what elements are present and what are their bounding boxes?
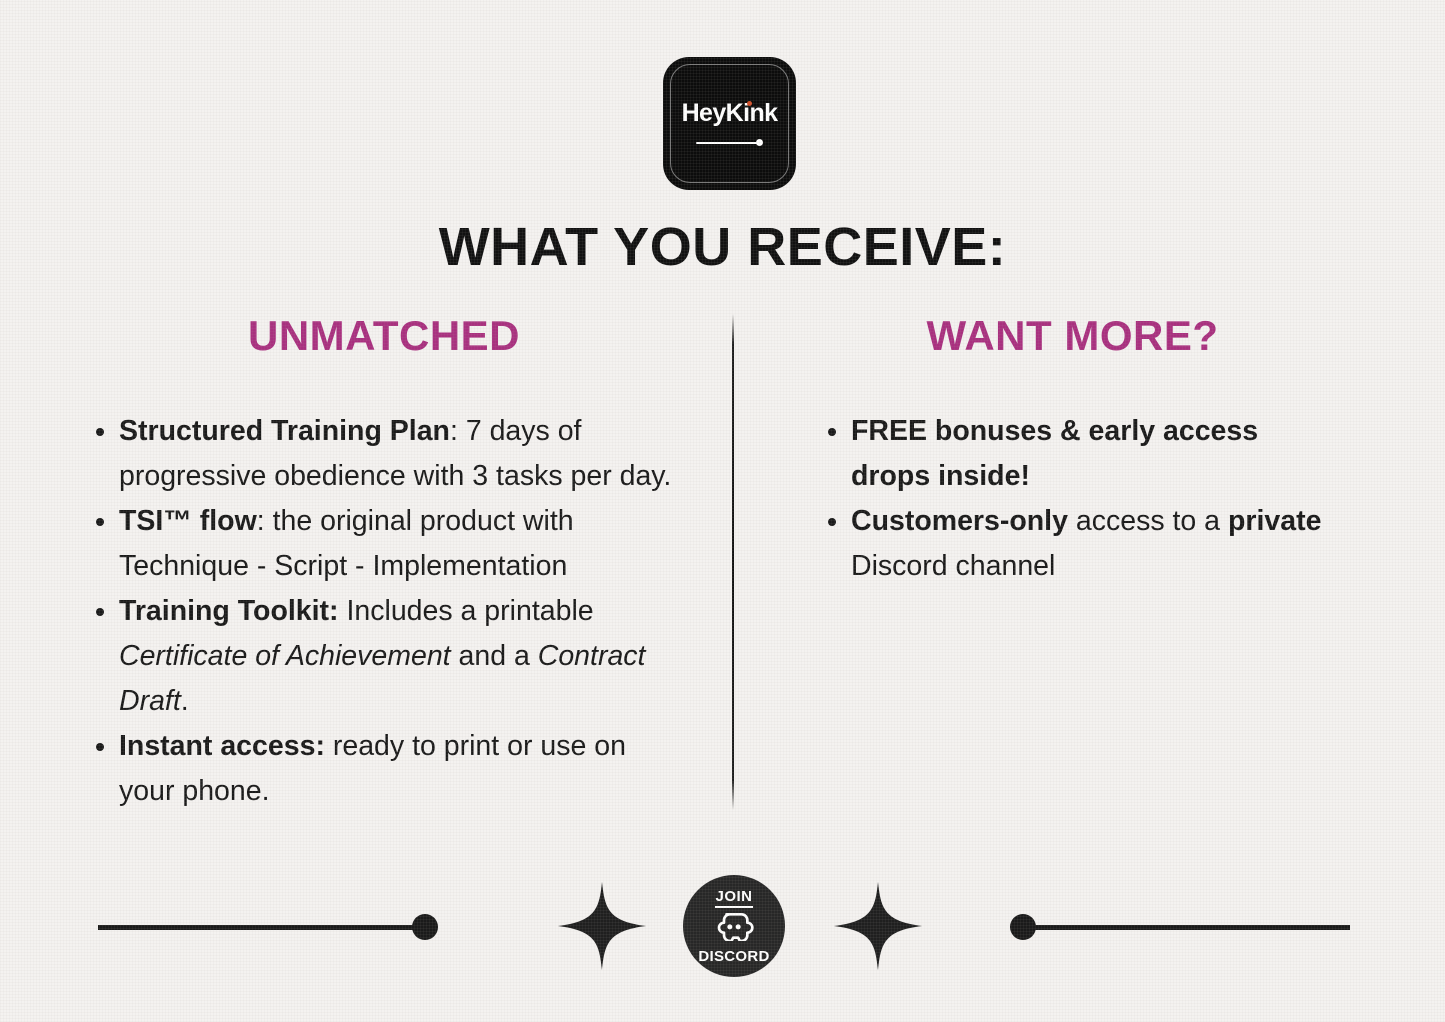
bullet-tail: Discord channel <box>851 550 1055 582</box>
list-item: Structured Training Plan: 7 days of prog… <box>88 409 688 499</box>
logo-box: HeyKink <box>663 57 796 190</box>
left-rule-line <box>98 925 423 930</box>
bullet-sep <box>325 730 333 762</box>
discord-join-text: JOIN <box>715 888 752 908</box>
page-title: WHAT YOU RECEIVE: <box>0 216 1445 278</box>
left-benefits-list: Structured Training Plan: 7 days of prog… <box>88 409 688 814</box>
logo-wordmark: HeyKink <box>663 99 796 128</box>
join-discord-badge[interactable]: JOIN DISCORD <box>683 875 785 977</box>
left-column-heading: UNMATCHED <box>114 312 654 360</box>
bullet-sep: : <box>450 415 466 447</box>
list-item: FREE bonuses & early access drops inside… <box>820 409 1330 499</box>
bullet-sep: : <box>257 505 273 537</box>
column-divider <box>732 314 734 810</box>
bullet-lead: Customers-only <box>851 505 1068 537</box>
logo-accent-dot-icon <box>747 101 752 106</box>
sparkle-icon <box>832 880 924 972</box>
list-item: TSI™ flow: the original product with Tec… <box>88 499 688 589</box>
list-item: Instant access: ready to print or use on… <box>88 724 688 814</box>
heykink-logo: HeyKink <box>663 57 796 190</box>
bullet-bold-private: private <box>1228 505 1321 537</box>
sparkle-icon <box>556 880 648 972</box>
list-item: Customers-only access to a private Disco… <box>820 499 1330 589</box>
left-rule-end-dot-icon <box>412 914 438 940</box>
right-benefits-list: FREE bonuses & early access drops inside… <box>820 409 1330 589</box>
bullet-mid: and a <box>451 640 538 672</box>
right-rule-line <box>1025 925 1350 930</box>
bullet-rest: access to a <box>1076 505 1228 537</box>
bullet-italic-certificate: Certificate of Achievement <box>119 640 451 672</box>
right-column-heading: WANT MORE? <box>805 312 1340 360</box>
bullet-rest: Includes a printable <box>346 595 593 627</box>
bullet-lead: Training Toolkit: <box>119 595 339 627</box>
bullet-lead: FREE bonuses & early access drops inside… <box>851 415 1258 492</box>
bullet-lead: Structured Training Plan <box>119 415 450 447</box>
logo-underline-dot-icon <box>756 139 763 146</box>
bullet-sep <box>1068 505 1076 537</box>
bullet-lead: TSI™ flow <box>119 505 257 537</box>
bullet-lead: Instant access: <box>119 730 325 762</box>
discord-logo-icon <box>714 911 754 941</box>
discord-label: DISCORD <box>683 948 785 965</box>
list-item: Training Toolkit: Includes a printable C… <box>88 589 688 724</box>
discord-join-label: JOIN <box>683 888 785 905</box>
bullet-tail: . <box>181 685 189 717</box>
logo-underline-rule <box>696 142 758 144</box>
